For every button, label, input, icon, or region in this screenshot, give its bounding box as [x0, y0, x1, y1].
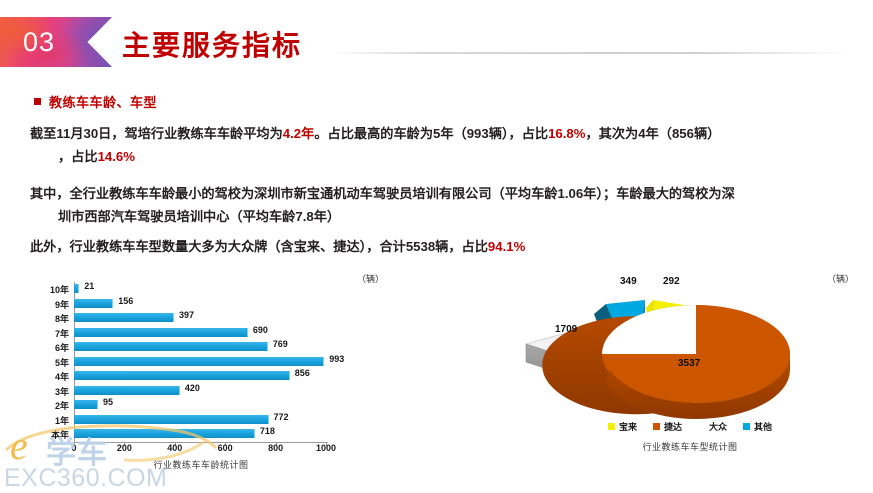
paragraph-2: 其中，全行业教练车车龄最小的驾校为深圳市新宝通机动车驾驶员培训有限公司（平均车龄… [30, 183, 850, 204]
slide-header: 03 主要服务指标 [0, 0, 873, 82]
bar-value-label: 769 [273, 339, 288, 349]
bar-chart-caption: 行业教练车车龄统计图 [74, 458, 328, 471]
legend-swatch-icon [698, 423, 705, 430]
pie-slice-jieda [542, 305, 790, 419]
p1-text-a: 截至11月30日，驾培行业教练车车龄平均为 [30, 126, 283, 141]
bar-segment [74, 400, 98, 409]
bar-category-label: 8年 [55, 312, 69, 325]
bar-segment [74, 284, 79, 293]
bar-chart-tick-label: 0 [71, 443, 76, 453]
paragraph-1: 截至11月30日，驾培行业教练车车龄平均为4.2年。占比最高的车龄为5年（993… [30, 123, 850, 144]
pie-value-dazhong: 1709 [555, 324, 577, 335]
pie-value-baolai: 292 [663, 276, 680, 287]
bar-value-label: 690 [253, 325, 268, 335]
square-bullet-icon [34, 98, 41, 105]
pie-chart-plot-area: 349 292 1709 3537 [520, 278, 860, 428]
pie-value-qita: 349 [620, 276, 637, 287]
bar-chart-tick-label: 200 [117, 443, 132, 453]
bar-category-label: 2年 [55, 399, 69, 412]
bar-category-label: 7年 [55, 327, 69, 340]
p1-line2-text: ，占比 [58, 149, 98, 164]
bar-segment [74, 371, 290, 380]
paragraph-3: 此外，行业教练车车型数量大多为大众牌（含宝来、捷达），合计5538辆，占比94.… [30, 236, 850, 257]
legend-item: 捷达 [653, 420, 682, 433]
bar-value-label: 993 [329, 354, 344, 364]
paragraph-1-line-2: ，占比14.6% [58, 146, 135, 165]
bar-category-label: 4年 [55, 370, 69, 383]
bar-chart-tick-label: 600 [218, 443, 233, 453]
bar-value-label: 156 [118, 296, 133, 306]
pie-chart: （辆） [520, 268, 860, 473]
bar-value-label: 95 [103, 397, 113, 407]
legend-swatch-icon [608, 423, 615, 430]
p3-text: 此外，行业教练车车型数量大多为大众牌（含宝来、捷达），合计5538辆，占比 [30, 239, 488, 254]
bar-chart-tick-label: 800 [268, 443, 283, 453]
title-divider [330, 52, 850, 54]
section-number: 03 [0, 17, 78, 67]
bar-value-label: 397 [179, 310, 194, 320]
p1-highlight-2: 16.8% [548, 126, 585, 141]
bar-segment [74, 328, 248, 337]
legend-label: 其他 [754, 420, 772, 433]
bar-segment [74, 313, 174, 322]
bar-category-label: 10年 [50, 283, 69, 296]
bullet-heading: 教练车车龄、车型 [34, 92, 157, 111]
bar-segment [74, 342, 268, 351]
bar-value-label: 718 [260, 426, 275, 436]
legend-label: 捷达 [664, 420, 682, 433]
bar-category-label: 6年 [55, 341, 69, 354]
pie-chart-legend: 宝来捷达大众其他 [520, 420, 860, 433]
legend-swatch-icon [653, 423, 660, 430]
bar-chart-tick-label: 400 [167, 443, 182, 453]
bar-category-label: 1年 [55, 414, 69, 427]
bar-category-label: 本年 [51, 428, 69, 441]
pie-value-jieda: 3537 [678, 358, 700, 369]
bar-segment [74, 357, 324, 366]
legend-item: 其他 [743, 420, 772, 433]
bar-chart-row: 本年718 [74, 427, 326, 443]
p1-line2-highlight: 14.6% [98, 149, 135, 164]
bar-chart-tick-label: 1000 [316, 443, 336, 453]
legend-label: 宝来 [619, 420, 637, 433]
bar-segment [74, 386, 180, 395]
legend-swatch-icon [743, 423, 750, 430]
bullet-heading-label: 教练车车龄、车型 [49, 92, 157, 111]
legend-item: 宝来 [608, 420, 637, 433]
bar-value-label: 772 [274, 412, 289, 422]
p2-line2-text: 圳市西部汽车驾驶员培训中心（平均车龄7.8年） [58, 209, 340, 224]
bar-category-label: 5年 [55, 356, 69, 369]
pie-chart-svg [520, 278, 860, 428]
p1-highlight-1: 4.2年 [283, 126, 315, 141]
bar-category-label: 9年 [55, 298, 69, 311]
bar-category-label: 3年 [55, 385, 69, 398]
bar-segment [74, 415, 269, 424]
bar-chart-plot-area: 10年219年1568年3977年6906年7695年9934年8563年420… [74, 282, 326, 442]
bar-value-label: 21 [84, 281, 94, 291]
p1-text-b: 。占比最高的车龄为5年（993辆），占比 [314, 126, 548, 141]
bar-segment [74, 429, 255, 438]
bar-value-label: 856 [295, 368, 310, 378]
bar-chart-unit-label: （辆） [357, 272, 384, 285]
p1-text-c: ，其次为4年（856辆） [585, 126, 720, 141]
bar-segment [74, 299, 113, 308]
section-ribbon: 03 [0, 17, 112, 67]
p3-highlight: 94.1% [488, 239, 525, 254]
bar-value-label: 420 [185, 383, 200, 393]
paragraph-2-line-2: 圳市西部汽车驾驶员培训中心（平均车龄7.8年） [58, 206, 340, 225]
legend-item: 大众 [698, 420, 727, 433]
p2-text: 其中，全行业教练车车龄最小的驾校为深圳市新宝通机动车驾驶员培训有限公司（平均车龄… [30, 186, 735, 201]
bar-chart: （辆） 10年219年1568年3977年6906年7695年9934年8563… [22, 268, 382, 468]
legend-label: 大众 [709, 420, 727, 433]
pie-chart-caption: 行业教练车车型统计图 [520, 440, 860, 453]
page-title: 主要服务指标 [122, 24, 302, 64]
